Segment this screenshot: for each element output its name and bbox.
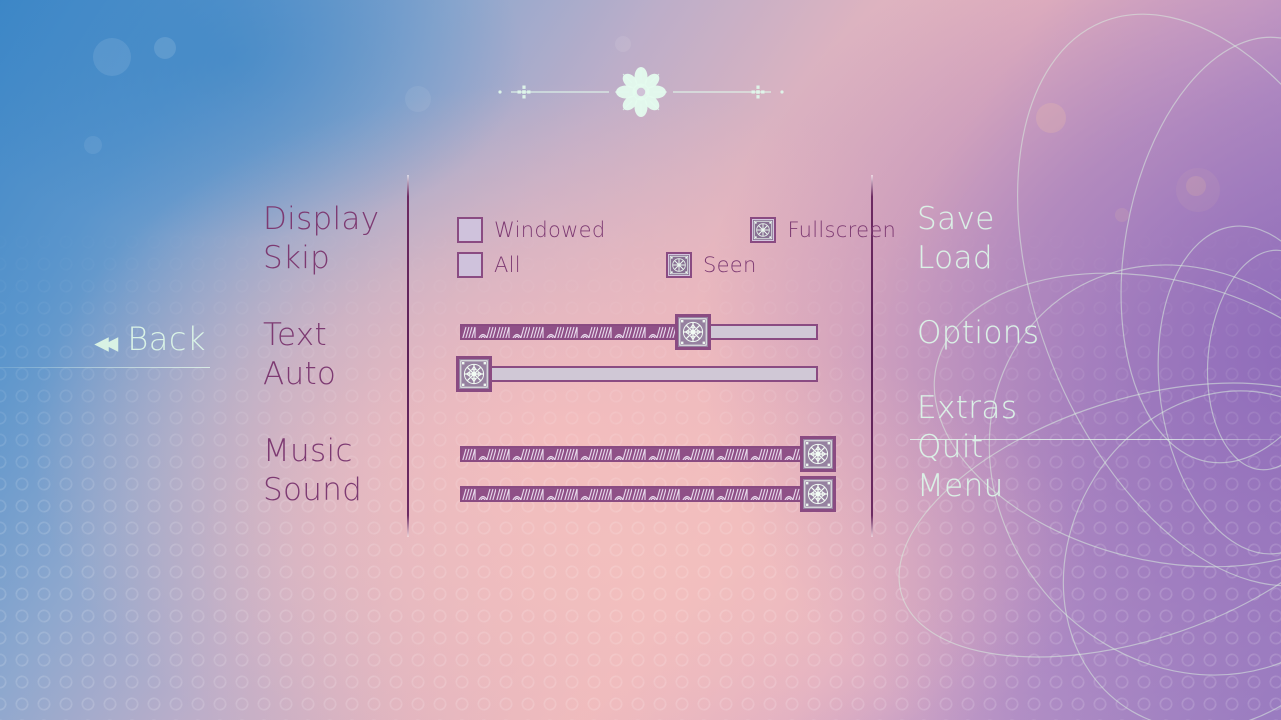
ornate-check-mark-icon xyxy=(753,220,773,240)
slider-handle[interactable] xyxy=(800,436,836,472)
label-display[interactable]: Display xyxy=(263,200,379,239)
menu-item-load[interactable]: Load xyxy=(917,239,1281,278)
back-button[interactable]: ◂◂ Back xyxy=(0,320,210,368)
menu-item-save[interactable]: Save xyxy=(917,200,1281,239)
slider-track[interactable] xyxy=(460,366,818,382)
checkbox-all[interactable]: All xyxy=(457,252,521,278)
menu-item-extras[interactable]: Extras xyxy=(917,389,1281,428)
checkbox-fullscreen[interactable]: Fullscreen xyxy=(750,217,896,243)
slider-fill xyxy=(460,486,818,502)
checkbox-all-box[interactable] xyxy=(457,252,483,278)
label-group-music-sound: Music Sound xyxy=(263,432,362,510)
ornate-check-mark-icon xyxy=(669,255,689,275)
checkbox-row: All xyxy=(457,247,857,282)
menu-item-quit[interactable]: Quit xyxy=(917,428,1281,467)
right-menu: Save Load Options Extras Quit Menu xyxy=(917,200,1281,506)
label-group-display-skip: Display Skip xyxy=(263,200,379,278)
checkbox-row: Windowed xyxy=(457,212,857,247)
text-speed-slider[interactable] xyxy=(460,321,818,343)
label-auto[interactable]: Auto xyxy=(263,355,336,394)
sound-volume-slider[interactable] xyxy=(460,483,818,505)
slider-handle[interactable] xyxy=(800,476,836,512)
checkbox-area: Windowed xyxy=(457,212,857,282)
checkbox-windowed[interactable]: Windowed xyxy=(457,217,605,243)
menu-item-menu[interactable]: Menu xyxy=(917,467,1281,506)
back-underline xyxy=(0,367,210,368)
slider-fill xyxy=(460,446,818,462)
label-group-text-auto: Text Auto xyxy=(263,316,336,394)
active-menu-underline xyxy=(910,439,1274,440)
label-text[interactable]: Text xyxy=(263,316,336,355)
back-label: Back xyxy=(127,320,206,358)
menu-item-options[interactable]: Options xyxy=(917,314,1281,353)
checkbox-seen[interactable]: Seen xyxy=(666,252,757,278)
slider-handle[interactable] xyxy=(456,356,492,392)
checkbox-fullscreen-label: Fullscreen xyxy=(787,218,896,242)
label-skip[interactable]: Skip xyxy=(263,239,379,278)
checkbox-seen-box[interactable] xyxy=(666,252,692,278)
slider-handle[interactable] xyxy=(675,314,711,350)
flower-rosette-divider-icon xyxy=(0,64,1281,120)
music-volume-slider[interactable] xyxy=(460,443,818,465)
checkbox-windowed-label: Windowed xyxy=(494,218,605,242)
checkbox-all-label: All xyxy=(494,253,521,277)
divider-left xyxy=(407,175,409,537)
menu-spacer xyxy=(917,353,1281,389)
label-music[interactable]: Music xyxy=(263,432,362,471)
checkbox-fullscreen-box[interactable] xyxy=(750,217,776,243)
label-sound[interactable]: Sound xyxy=(263,471,362,510)
menu-spacer xyxy=(917,278,1281,314)
auto-speed-slider[interactable] xyxy=(460,363,818,385)
checkbox-windowed-box[interactable] xyxy=(457,217,483,243)
slider-fill xyxy=(460,324,693,340)
double-chevron-left-icon: ◂◂ xyxy=(94,329,113,358)
checkbox-seen-label: Seen xyxy=(703,253,757,277)
